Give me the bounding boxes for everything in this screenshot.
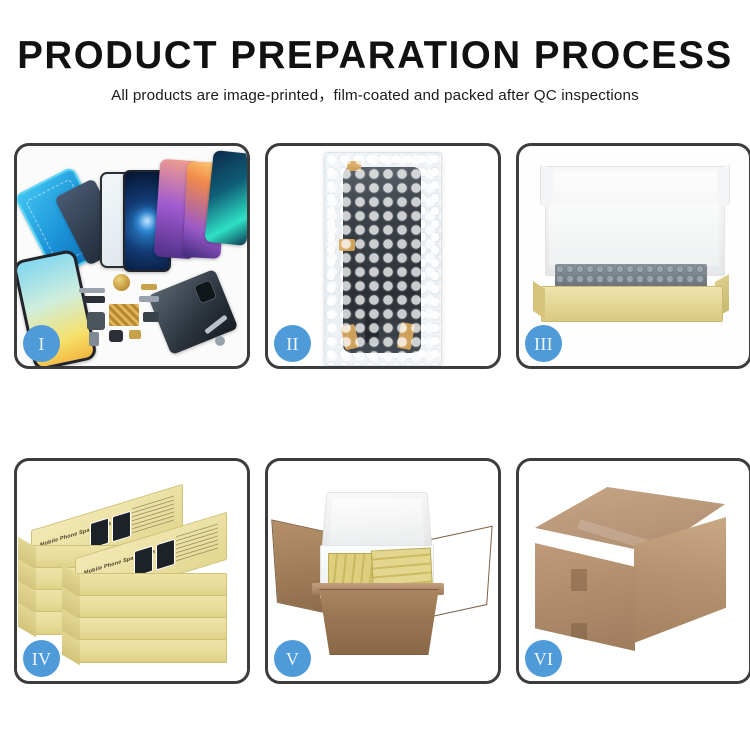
- step-badge-2: II: [274, 325, 311, 362]
- step-panel-2[interactable]: II: [265, 143, 501, 369]
- step-panel-3[interactable]: III: [516, 143, 750, 369]
- ic-part-icon: [143, 312, 159, 322]
- step-badge-3: III: [525, 325, 562, 362]
- page-subtitle: All products are image-printed，film-coat…: [0, 88, 750, 103]
- screw-part-icon: [215, 336, 225, 346]
- carton-tape-upper-icon: [571, 569, 587, 591]
- step-image-6: VI: [519, 461, 749, 681]
- camera-part-icon: [87, 312, 105, 330]
- tape-top-icon: [347, 161, 361, 171]
- box-artwork-phone-4: [156, 539, 175, 571]
- step-panel-5[interactable]: V: [265, 458, 501, 684]
- vibrator-part-icon: [109, 330, 123, 342]
- sim-tray-part-icon: [89, 332, 99, 346]
- box-artwork-phone-2: [112, 511, 131, 543]
- gold-contact-part-icon: [141, 284, 157, 290]
- step-image-4: Mobile Phone Spare Parts Mobile Phone Sp…: [17, 461, 247, 681]
- step-badge-4: IV: [23, 640, 60, 677]
- carton-front-panel-image: [314, 589, 444, 655]
- page-header: PRODUCT PREPARATION PROCESS All products…: [0, 0, 750, 103]
- step-panel-6[interactable]: VI: [516, 458, 750, 684]
- flex-cable-image: [365, 213, 379, 343]
- step-panel-4[interactable]: Mobile Phone Spare Parts Mobile Phone Sp…: [14, 458, 250, 684]
- step-image-3: III: [519, 146, 749, 366]
- box-artwork-text-lines-front: [176, 524, 218, 565]
- screw-set-part-icon: [129, 330, 141, 339]
- tape-mid-icon: [339, 239, 355, 251]
- page-title: PRODUCT PREPARATION PROCESS: [6, 36, 745, 75]
- carton-left-face-image: [535, 543, 635, 651]
- flex-cable-part-icon: [79, 288, 105, 293]
- step-image-2: II: [268, 146, 498, 366]
- step-badge-6: VI: [525, 640, 562, 677]
- process-steps-grid: I II III: [0, 143, 750, 684]
- antenna-part-icon: [139, 296, 159, 302]
- bubble-wrap-bag-image: [324, 152, 442, 366]
- step-badge-5: V: [274, 640, 311, 677]
- step-panel-1[interactable]: I: [14, 143, 250, 369]
- speaker-part-icon: [113, 274, 130, 291]
- foam-box-lid-image: [321, 492, 433, 553]
- carton-tape-lower-icon: [571, 623, 587, 645]
- connector-board-part-icon: [109, 304, 139, 326]
- foam-sheet-image: [549, 204, 719, 266]
- step-image-1: I: [17, 146, 247, 366]
- step-image-5: V: [268, 461, 498, 681]
- yellow-box-front-image: [541, 286, 723, 322]
- step-badge-1: I: [23, 325, 60, 362]
- chip-part-icon: [83, 296, 105, 303]
